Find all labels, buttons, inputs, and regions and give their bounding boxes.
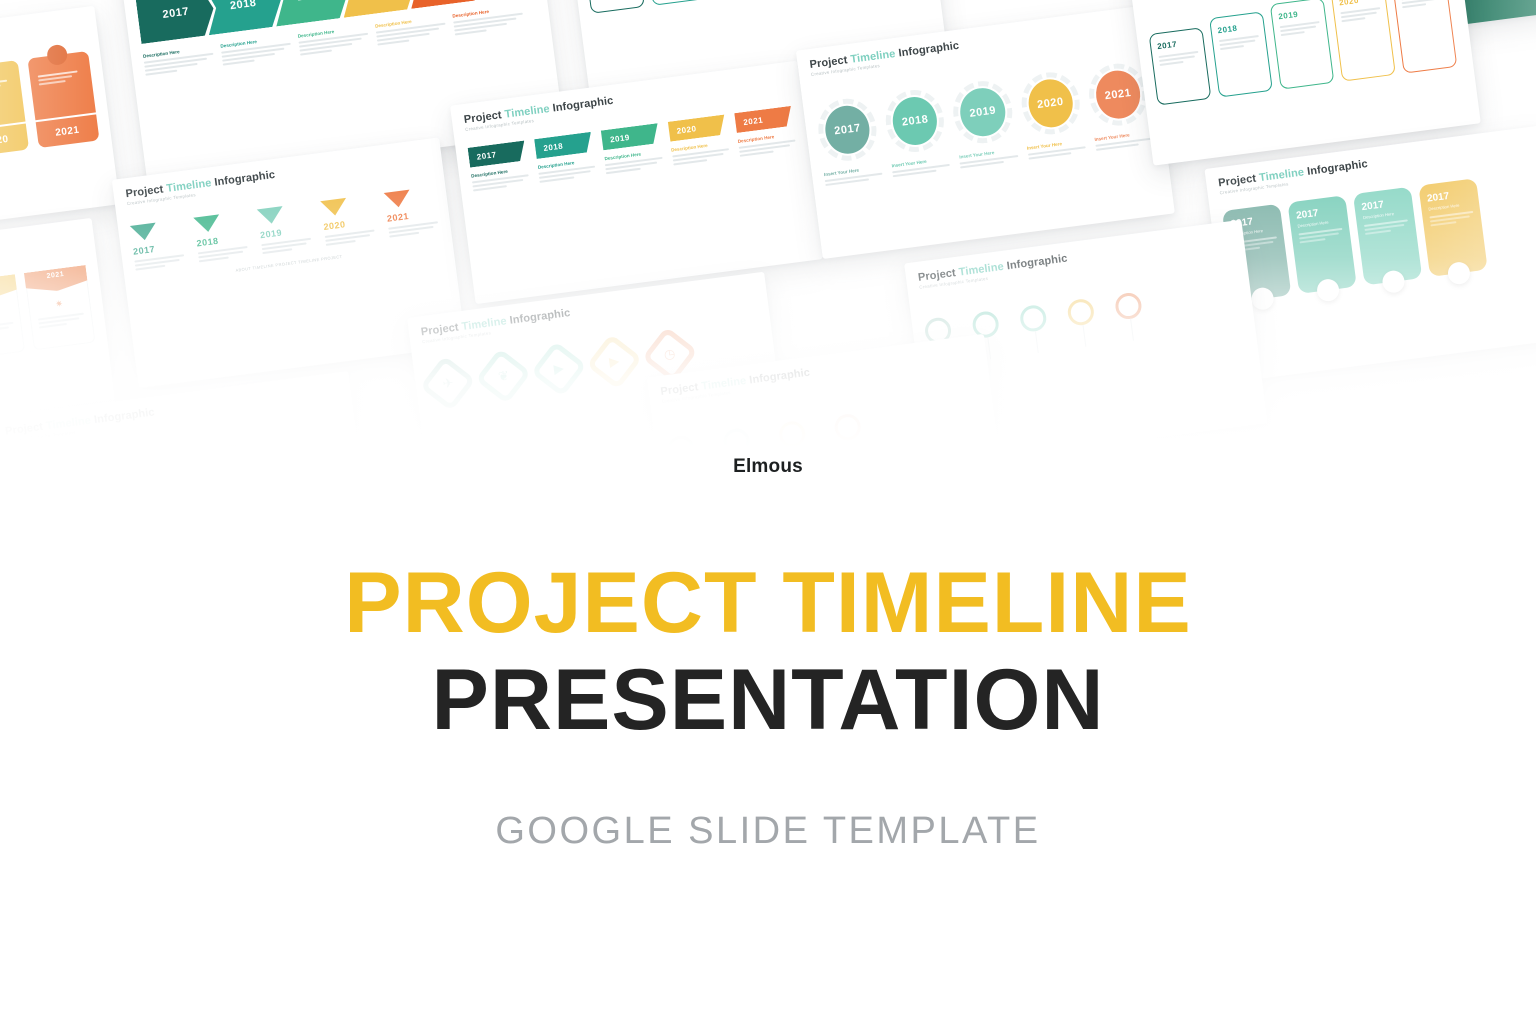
triangle-item[interactable]: 2018 bbox=[193, 211, 248, 262]
gear-item[interactable]: 2019 bbox=[950, 78, 1016, 147]
timeline-node bbox=[1250, 286, 1275, 311]
triangle-marker bbox=[193, 214, 221, 233]
triangle-marker bbox=[257, 206, 285, 225]
star-icon: ✷ bbox=[36, 296, 83, 313]
solid-card[interactable]: 2017 Description Here bbox=[1287, 195, 1356, 294]
solid-card[interactable]: 2017 Description Here bbox=[1418, 178, 1487, 277]
year-label: 2020 bbox=[0, 124, 29, 158]
banner-card-row: 2017 ✦ 2018 ⌬ 2020 bbox=[0, 265, 96, 378]
gear-icon: ⚙ bbox=[0, 305, 12, 322]
timeline-node bbox=[1316, 278, 1341, 303]
pin-tail bbox=[1130, 319, 1134, 341]
pin-icon bbox=[1066, 298, 1095, 327]
gear-caption: Insert Your Here bbox=[1027, 138, 1087, 159]
chevron-caption: Description Here bbox=[452, 5, 524, 36]
banner-card[interactable]: 2020 ⚙ bbox=[0, 274, 25, 359]
diamond-card[interactable]: ▶ bbox=[531, 341, 587, 397]
tag-item[interactable]: 2019 Description Here bbox=[601, 123, 663, 174]
gear-caption: Insert Your Here bbox=[1094, 130, 1154, 151]
diamond-card[interactable]: ❦ bbox=[475, 348, 531, 404]
cover-title-block: PROJECT TIMELINE PRESENTATION GOOGLE SLI… bbox=[0, 560, 1536, 853]
presentation-cover-canvas: Project Timeline Infographic Creative In… bbox=[0, 0, 1536, 1024]
play-icon: ▶ bbox=[553, 360, 565, 377]
clipboard-card[interactable]: 2020 bbox=[0, 60, 29, 157]
pin-item[interactable] bbox=[1066, 298, 1098, 349]
step-card[interactable]: 2021 bbox=[1391, 0, 1457, 74]
chevron-step[interactable]: 2018 bbox=[202, 0, 284, 35]
step-card[interactable]: 2019 bbox=[1270, 0, 1335, 90]
triangle-item[interactable]: 2020 bbox=[320, 195, 375, 246]
year-tag: 2017 bbox=[468, 140, 527, 167]
triangle-item[interactable]: 2019 bbox=[257, 203, 312, 254]
chevron-step[interactable]: 2021 bbox=[405, 0, 487, 9]
step-card[interactable]: 2020 bbox=[1330, 0, 1395, 82]
solid-card[interactable]: 2017 Description Here bbox=[1353, 187, 1422, 286]
outline-card[interactable]: ⚯ Description Here 2018 bbox=[641, 0, 706, 6]
solid-card-row: 2017 Description Here 2017 Description H… bbox=[1222, 170, 1536, 302]
gear-item[interactable]: 2020 bbox=[1018, 69, 1084, 138]
chevron-step[interactable]: 2017 bbox=[135, 0, 217, 44]
triangle-marker bbox=[130, 223, 158, 242]
slide-thumbnail-clipboard-cards[interactable]: Project Timeline Infographic Creative In… bbox=[0, 6, 120, 243]
chevron-caption: Description Here bbox=[143, 45, 215, 76]
pin-icon bbox=[1019, 304, 1048, 333]
diamond-card[interactable]: ✈ bbox=[420, 355, 476, 411]
triangle-item[interactable]: 2017 bbox=[130, 220, 185, 271]
clipboard-clip-icon bbox=[46, 44, 68, 66]
square-row bbox=[0, 503, 11, 560]
page-subtitle: GOOGLE SLIDE TEMPLATE bbox=[0, 810, 1536, 853]
outline-card-row: ➤ Description Here 2017 ⚯ Description He… bbox=[580, 0, 925, 14]
clock-icon: ◷ bbox=[663, 346, 676, 363]
gear-caption: Insert Your Here bbox=[959, 147, 1019, 168]
pin-icon bbox=[778, 420, 807, 449]
pin-tail bbox=[1082, 325, 1086, 347]
year-tag: 2019 bbox=[601, 123, 660, 150]
timeline-node bbox=[1381, 269, 1406, 294]
tag-item[interactable]: 2017 Description Here bbox=[468, 140, 530, 191]
clipboard-card[interactable]: 2021 bbox=[27, 51, 100, 148]
triangle-item[interactable]: 2021 bbox=[384, 187, 439, 238]
timeline-node bbox=[1447, 261, 1472, 286]
tag-item[interactable]: 2018 Description Here bbox=[534, 132, 596, 183]
triangle-marker bbox=[320, 198, 348, 217]
chevron-caption: Description Here bbox=[220, 35, 292, 66]
pin-tail bbox=[987, 337, 991, 359]
year-tag: 2018 bbox=[534, 132, 593, 159]
pin-tail bbox=[1034, 331, 1038, 353]
pin-icon bbox=[833, 413, 862, 442]
chevron-caption: Description Here bbox=[297, 25, 369, 56]
tag-item[interactable]: 2021 Description Here bbox=[734, 106, 796, 157]
pin-item[interactable] bbox=[1114, 291, 1146, 342]
year-label: 2021 bbox=[35, 114, 99, 148]
gear-item[interactable]: 2018 bbox=[882, 86, 948, 155]
step-card[interactable]: 2018 bbox=[1209, 11, 1273, 97]
clipboard-card-row: 2017 2019 bbox=[0, 51, 100, 176]
gear-item[interactable]: 2017 bbox=[815, 95, 881, 164]
diamond-card[interactable]: ▶ bbox=[586, 334, 642, 390]
page-title-primary: PROJECT TIMELINE bbox=[0, 560, 1536, 646]
slide-thumbnail-gear-circles[interactable]: Project Timeline Infographic Creative In… bbox=[796, 5, 1175, 259]
chevron-caption: Description Here bbox=[375, 15, 447, 46]
tag-item[interactable]: 2020 Description Here bbox=[667, 114, 729, 165]
play-icon: ▶ bbox=[608, 353, 620, 370]
year-tag: 2020 bbox=[667, 114, 726, 141]
step-card[interactable]: 2017 bbox=[1149, 27, 1212, 105]
step-outline-row: 2017 2018 2019 2020 bbox=[1145, 0, 1461, 106]
brand-name: Elmous bbox=[0, 456, 1536, 478]
gear-caption: Insert Your Here bbox=[824, 165, 884, 186]
leaf-icon: ❦ bbox=[497, 367, 510, 384]
chevron-step[interactable]: 2019 bbox=[270, 0, 352, 26]
pin-item[interactable] bbox=[1019, 304, 1051, 355]
page-title-secondary: PRESENTATION bbox=[0, 652, 1536, 748]
plane-icon: ✈ bbox=[441, 375, 454, 392]
pin-icon bbox=[1114, 291, 1143, 320]
banner-card[interactable]: 2021 ✷ bbox=[24, 265, 96, 350]
chevron-step[interactable]: 2020 bbox=[337, 0, 419, 18]
triangle-marker bbox=[384, 190, 412, 209]
gear-caption: Insert Your Here bbox=[891, 156, 951, 177]
year-tag: 2021 bbox=[734, 106, 793, 133]
pin-icon bbox=[722, 427, 751, 456]
outline-card[interactable]: ➤ Description Here 2017 bbox=[580, 0, 645, 14]
